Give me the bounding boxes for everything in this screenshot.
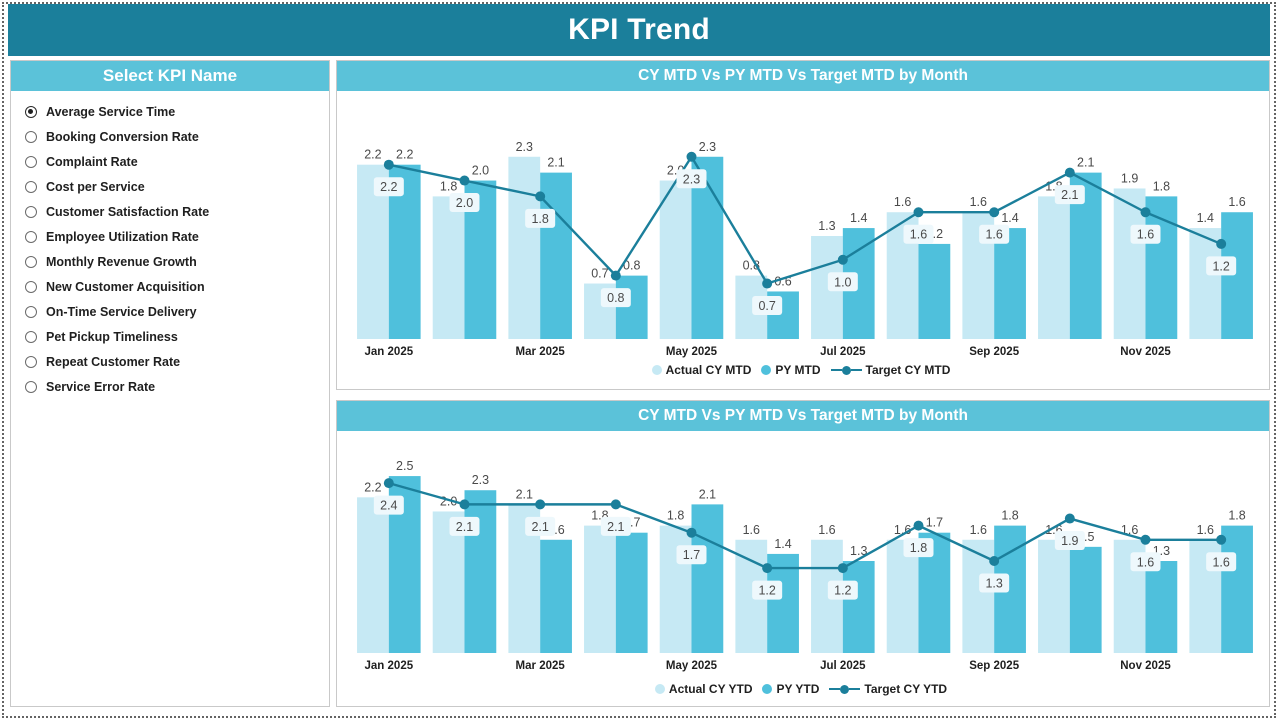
bar-value-label: 1.4 bbox=[850, 211, 867, 225]
bar-py-ytd-6 bbox=[843, 561, 875, 653]
bar-py-mtd-3 bbox=[616, 276, 648, 339]
bar-value-label: 1.6 bbox=[1197, 523, 1214, 537]
target-line-marker-10 bbox=[1141, 207, 1151, 217]
x-axis-tick-label: Mar 2025 bbox=[516, 346, 566, 358]
target-line-marker-6 bbox=[838, 255, 848, 265]
kpi-radio-item-8[interactable]: On-Time Service Delivery bbox=[25, 299, 329, 324]
legend-item-1[interactable]: PY YTD bbox=[762, 682, 819, 696]
target-line-marker-6 bbox=[838, 563, 848, 573]
target-line-marker-4 bbox=[687, 152, 697, 162]
target-value-label: 2.4 bbox=[380, 499, 397, 513]
bar-value-label: 1.7 bbox=[926, 516, 943, 530]
radio-button-icon[interactable] bbox=[25, 106, 37, 118]
target-value-label: 2.1 bbox=[531, 520, 548, 534]
kpi-radio-item-4[interactable]: Customer Satisfaction Rate bbox=[25, 199, 329, 224]
target-value-label: 0.7 bbox=[758, 299, 775, 313]
radio-button-icon[interactable] bbox=[25, 156, 37, 168]
kpi-radio-item-7[interactable]: New Customer Acquisition bbox=[25, 274, 329, 299]
bar-value-label: 1.6 bbox=[970, 195, 987, 209]
radio-button-icon[interactable] bbox=[25, 206, 37, 218]
bar-value-label: 1.9 bbox=[1121, 171, 1138, 185]
legend-item-2[interactable]: Target CY MTD bbox=[831, 363, 951, 377]
bar-value-label: 1.6 bbox=[743, 523, 760, 537]
bar-actual-cy-ytd-4 bbox=[660, 526, 692, 653]
x-axis-tick-label: Mar 2025 bbox=[516, 660, 566, 672]
chart-svg-ytd: 2.22.02.11.81.81.61.61.61.61.61.61.62.52… bbox=[337, 431, 1269, 706]
x-axis-tick-label: Sep 2025 bbox=[969, 660, 1019, 672]
bar-py-ytd-11 bbox=[1221, 526, 1253, 653]
radio-button-icon[interactable] bbox=[25, 306, 37, 318]
legend-item-2[interactable]: Target CY YTD bbox=[829, 682, 947, 696]
bar-value-label: 1.6 bbox=[894, 195, 911, 209]
bar-py-ytd-4 bbox=[692, 504, 724, 653]
legend-label: PY YTD bbox=[776, 682, 819, 696]
x-axis-tick-label: Jan 2025 bbox=[365, 346, 414, 358]
kpi-radio-label: Cost per Service bbox=[46, 180, 145, 194]
bar-actual-cy-mtd-2 bbox=[508, 157, 540, 339]
bar-value-label: 1.6 bbox=[970, 523, 987, 537]
target-value-label: 2.1 bbox=[1061, 188, 1078, 202]
bar-value-label: 1.4 bbox=[1001, 211, 1018, 225]
bar-py-ytd-10 bbox=[1146, 561, 1178, 653]
x-axis-tick-label: May 2025 bbox=[666, 346, 718, 358]
bar-value-label: 2.2 bbox=[364, 480, 381, 494]
bar-py-mtd-7 bbox=[919, 244, 951, 339]
bar-py-ytd-2 bbox=[540, 540, 572, 653]
target-line-marker-1 bbox=[460, 176, 470, 186]
bar-value-label: 2.5 bbox=[396, 459, 413, 473]
bar-value-label: 1.8 bbox=[440, 179, 457, 193]
legend-label: PY MTD bbox=[775, 363, 820, 377]
kpi-radio-item-1[interactable]: Booking Conversion Rate bbox=[25, 124, 329, 149]
kpi-radio-label: On-Time Service Delivery bbox=[46, 305, 197, 319]
bar-actual-cy-ytd-9 bbox=[1038, 540, 1070, 653]
target-value-label: 1.8 bbox=[531, 212, 548, 226]
chart-legend-ytd: Actual CY YTDPY YTDTarget CY YTD bbox=[337, 682, 1269, 696]
target-value-label: 0.8 bbox=[607, 291, 624, 305]
legend-swatch-icon bbox=[762, 684, 772, 694]
target-line-marker-7 bbox=[914, 207, 924, 217]
target-value-label: 1.2 bbox=[758, 584, 775, 598]
kpi-radio-label: Complaint Rate bbox=[46, 155, 138, 169]
target-value-label: 1.8 bbox=[910, 541, 927, 555]
target-line-marker-9 bbox=[1065, 168, 1075, 178]
bar-value-label: 2.3 bbox=[472, 473, 489, 487]
radio-button-icon[interactable] bbox=[25, 256, 37, 268]
target-line-marker-0 bbox=[384, 160, 394, 170]
radio-button-icon[interactable] bbox=[25, 381, 37, 393]
bar-value-label: 2.1 bbox=[516, 487, 533, 501]
target-line-marker-8 bbox=[989, 556, 999, 566]
bar-py-ytd-9 bbox=[1070, 547, 1102, 653]
x-axis-tick-label: Jul 2025 bbox=[820, 660, 866, 672]
bar-value-label: 1.6 bbox=[818, 523, 835, 537]
target-line-marker-2 bbox=[535, 499, 545, 509]
kpi-radio-item-5[interactable]: Employee Utilization Rate bbox=[25, 224, 329, 249]
bar-value-label: 2.3 bbox=[699, 140, 716, 154]
x-axis-tick-label: Jul 2025 bbox=[820, 346, 866, 358]
kpi-radio-label: Pet Pickup Timeliness bbox=[46, 330, 178, 344]
x-axis-tick-label: Nov 2025 bbox=[1120, 660, 1171, 672]
bar-value-label: 2.1 bbox=[699, 487, 716, 501]
kpi-radio-label: Booking Conversion Rate bbox=[46, 130, 199, 144]
target-value-label: 2.1 bbox=[456, 520, 473, 534]
bar-value-label: 2.1 bbox=[1077, 156, 1094, 170]
kpi-radio-label: Service Error Rate bbox=[46, 380, 155, 394]
chart-panel-mtd: CY MTD Vs PY MTD Vs Target MTD by Month … bbox=[336, 60, 1270, 390]
radio-button-icon[interactable] bbox=[25, 181, 37, 193]
legend-label: Actual CY YTD bbox=[669, 682, 753, 696]
x-axis-tick-label: May 2025 bbox=[666, 660, 718, 672]
bar-value-label: 1.4 bbox=[774, 537, 791, 551]
kpi-radio-item-9[interactable]: Pet Pickup Timeliness bbox=[25, 324, 329, 349]
bar-actual-cy-ytd-0 bbox=[357, 497, 389, 653]
bar-value-label: 1.8 bbox=[1228, 509, 1245, 523]
radio-button-icon[interactable] bbox=[25, 356, 37, 368]
bar-value-label: 1.8 bbox=[1001, 509, 1018, 523]
kpi-slicer-panel: Select KPI Name Average Service TimeBook… bbox=[10, 60, 330, 707]
chart-plot-mtd: 2.21.82.30.72.00.81.31.61.61.81.91.42.22… bbox=[337, 91, 1269, 389]
target-value-label: 2.1 bbox=[607, 520, 624, 534]
kpi-radio-label: Customer Satisfaction Rate bbox=[46, 205, 209, 219]
bar-value-label: 2.2 bbox=[364, 148, 381, 162]
legend-item-0[interactable]: Actual CY YTD bbox=[655, 682, 753, 696]
bar-value-label: 1.3 bbox=[818, 219, 835, 233]
target-line-marker-1 bbox=[460, 499, 470, 509]
kpi-radio-label: Employee Utilization Rate bbox=[46, 230, 199, 244]
radio-button-icon[interactable] bbox=[25, 231, 37, 243]
target-line-marker-11 bbox=[1216, 239, 1226, 249]
target-value-label: 1.6 bbox=[1137, 555, 1154, 569]
legend-label: Target CY YTD bbox=[864, 682, 947, 696]
target-value-label: 1.6 bbox=[985, 228, 1002, 242]
target-line-marker-3 bbox=[611, 499, 621, 509]
target-value-label: 1.6 bbox=[1137, 228, 1154, 242]
kpi-radio-label: New Customer Acquisition bbox=[46, 280, 205, 294]
target-value-label: 1.2 bbox=[1212, 259, 1229, 273]
bar-py-ytd-1 bbox=[465, 490, 497, 653]
target-value-label: 2.0 bbox=[456, 196, 473, 210]
kpi-radio-item-6[interactable]: Monthly Revenue Growth bbox=[25, 249, 329, 274]
bar-py-mtd-8 bbox=[994, 228, 1026, 339]
legend-item-1[interactable]: PY MTD bbox=[761, 363, 820, 377]
target-line-marker-5 bbox=[762, 279, 772, 289]
target-line-marker-0 bbox=[384, 478, 394, 488]
bar-actual-cy-mtd-1 bbox=[433, 196, 465, 339]
kpi-radio-item-3[interactable]: Cost per Service bbox=[25, 174, 329, 199]
legend-label: Target CY MTD bbox=[866, 363, 951, 377]
target-value-label: 1.3 bbox=[985, 577, 1002, 591]
x-axis-tick-label: Jan 2025 bbox=[365, 660, 414, 672]
target-value-label: 1.0 bbox=[834, 275, 851, 289]
bar-value-label: 1.6 bbox=[1228, 195, 1245, 209]
kpi-radio-label: Monthly Revenue Growth bbox=[46, 255, 197, 269]
kpi-radio-list: Average Service TimeBooking Conversion R… bbox=[11, 91, 329, 399]
legend-line-icon bbox=[829, 685, 860, 694]
legend-swatch-icon bbox=[761, 365, 771, 375]
bar-value-label: 2.1 bbox=[547, 156, 564, 170]
x-axis-tick-label: Nov 2025 bbox=[1120, 346, 1171, 358]
dashboard-page: KPI Trend Select KPI Name Average Servic… bbox=[0, 0, 1278, 720]
radio-button-icon[interactable] bbox=[25, 281, 37, 293]
target-value-label: 2.2 bbox=[380, 180, 397, 194]
target-value-label: 1.2 bbox=[834, 584, 851, 598]
bar-py-mtd-11 bbox=[1221, 212, 1253, 339]
bar-value-label: 2.0 bbox=[472, 164, 489, 178]
bar-value-label: 0.7 bbox=[591, 267, 608, 281]
target-value-label: 2.3 bbox=[683, 172, 700, 186]
bar-value-label: 2.3 bbox=[516, 140, 533, 154]
chart-title-ytd: CY MTD Vs PY MTD Vs Target MTD by Month bbox=[337, 401, 1269, 431]
target-line-marker-5 bbox=[762, 563, 772, 573]
target-line-marker-3 bbox=[611, 271, 621, 281]
target-line-marker-9 bbox=[1065, 514, 1075, 524]
bar-actual-cy-ytd-8 bbox=[962, 540, 994, 653]
page-title: KPI Trend bbox=[568, 13, 710, 47]
x-axis-tick-label: Sep 2025 bbox=[969, 346, 1019, 358]
target-line-marker-8 bbox=[989, 207, 999, 217]
target-value-label: 1.6 bbox=[1212, 555, 1229, 569]
bar-actual-cy-mtd-9 bbox=[1038, 196, 1070, 339]
kpi-radio-label: Average Service Time bbox=[46, 105, 175, 119]
kpi-slicer-header: Select KPI Name bbox=[11, 61, 329, 91]
target-line-marker-4 bbox=[687, 528, 697, 538]
target-line-marker-2 bbox=[535, 191, 545, 201]
radio-button-icon[interactable] bbox=[25, 331, 37, 343]
chart-plot-ytd: 2.22.02.11.81.81.61.61.61.61.61.61.62.52… bbox=[337, 431, 1269, 706]
bar-value-label: 1.8 bbox=[667, 509, 684, 523]
legend-line-icon bbox=[831, 366, 862, 375]
kpi-radio-item-11[interactable]: Service Error Rate bbox=[25, 374, 329, 399]
legend-swatch-icon bbox=[655, 684, 665, 694]
target-line-marker-11 bbox=[1216, 535, 1226, 545]
radio-button-icon[interactable] bbox=[25, 131, 37, 143]
chart-svg-mtd: 2.21.82.30.72.00.81.31.61.61.81.91.42.22… bbox=[337, 91, 1269, 389]
bar-value-label: 2.2 bbox=[396, 148, 413, 162]
bar-actual-cy-mtd-4 bbox=[660, 181, 692, 339]
legend-label: Actual CY MTD bbox=[666, 363, 752, 377]
app-header: KPI Trend bbox=[8, 4, 1270, 56]
chart-legend-mtd: Actual CY MTDPY MTDTarget CY MTD bbox=[337, 363, 1269, 377]
chart-title-mtd: CY MTD Vs PY MTD Vs Target MTD by Month bbox=[337, 61, 1269, 91]
kpi-radio-item-0[interactable]: Average Service Time bbox=[25, 99, 329, 124]
target-value-label: 1.6 bbox=[910, 228, 927, 242]
kpi-radio-label: Repeat Customer Rate bbox=[46, 355, 180, 369]
target-line-marker-7 bbox=[914, 521, 924, 531]
target-value-label: 1.7 bbox=[683, 548, 700, 562]
legend-swatch-icon bbox=[652, 365, 662, 375]
kpi-radio-item-2[interactable]: Complaint Rate bbox=[25, 149, 329, 174]
kpi-radio-item-10[interactable]: Repeat Customer Rate bbox=[25, 349, 329, 374]
bar-actual-cy-ytd-3 bbox=[584, 526, 616, 653]
bar-value-label: 1.4 bbox=[1197, 211, 1214, 225]
bar-py-ytd-3 bbox=[616, 533, 648, 653]
target-line-marker-10 bbox=[1141, 535, 1151, 545]
target-value-label: 1.9 bbox=[1061, 534, 1078, 548]
chart-panel-ytd: CY MTD Vs PY MTD Vs Target MTD by Month … bbox=[336, 400, 1270, 707]
bar-value-label: 1.8 bbox=[1153, 179, 1170, 193]
legend-item-0[interactable]: Actual CY MTD bbox=[652, 363, 752, 377]
